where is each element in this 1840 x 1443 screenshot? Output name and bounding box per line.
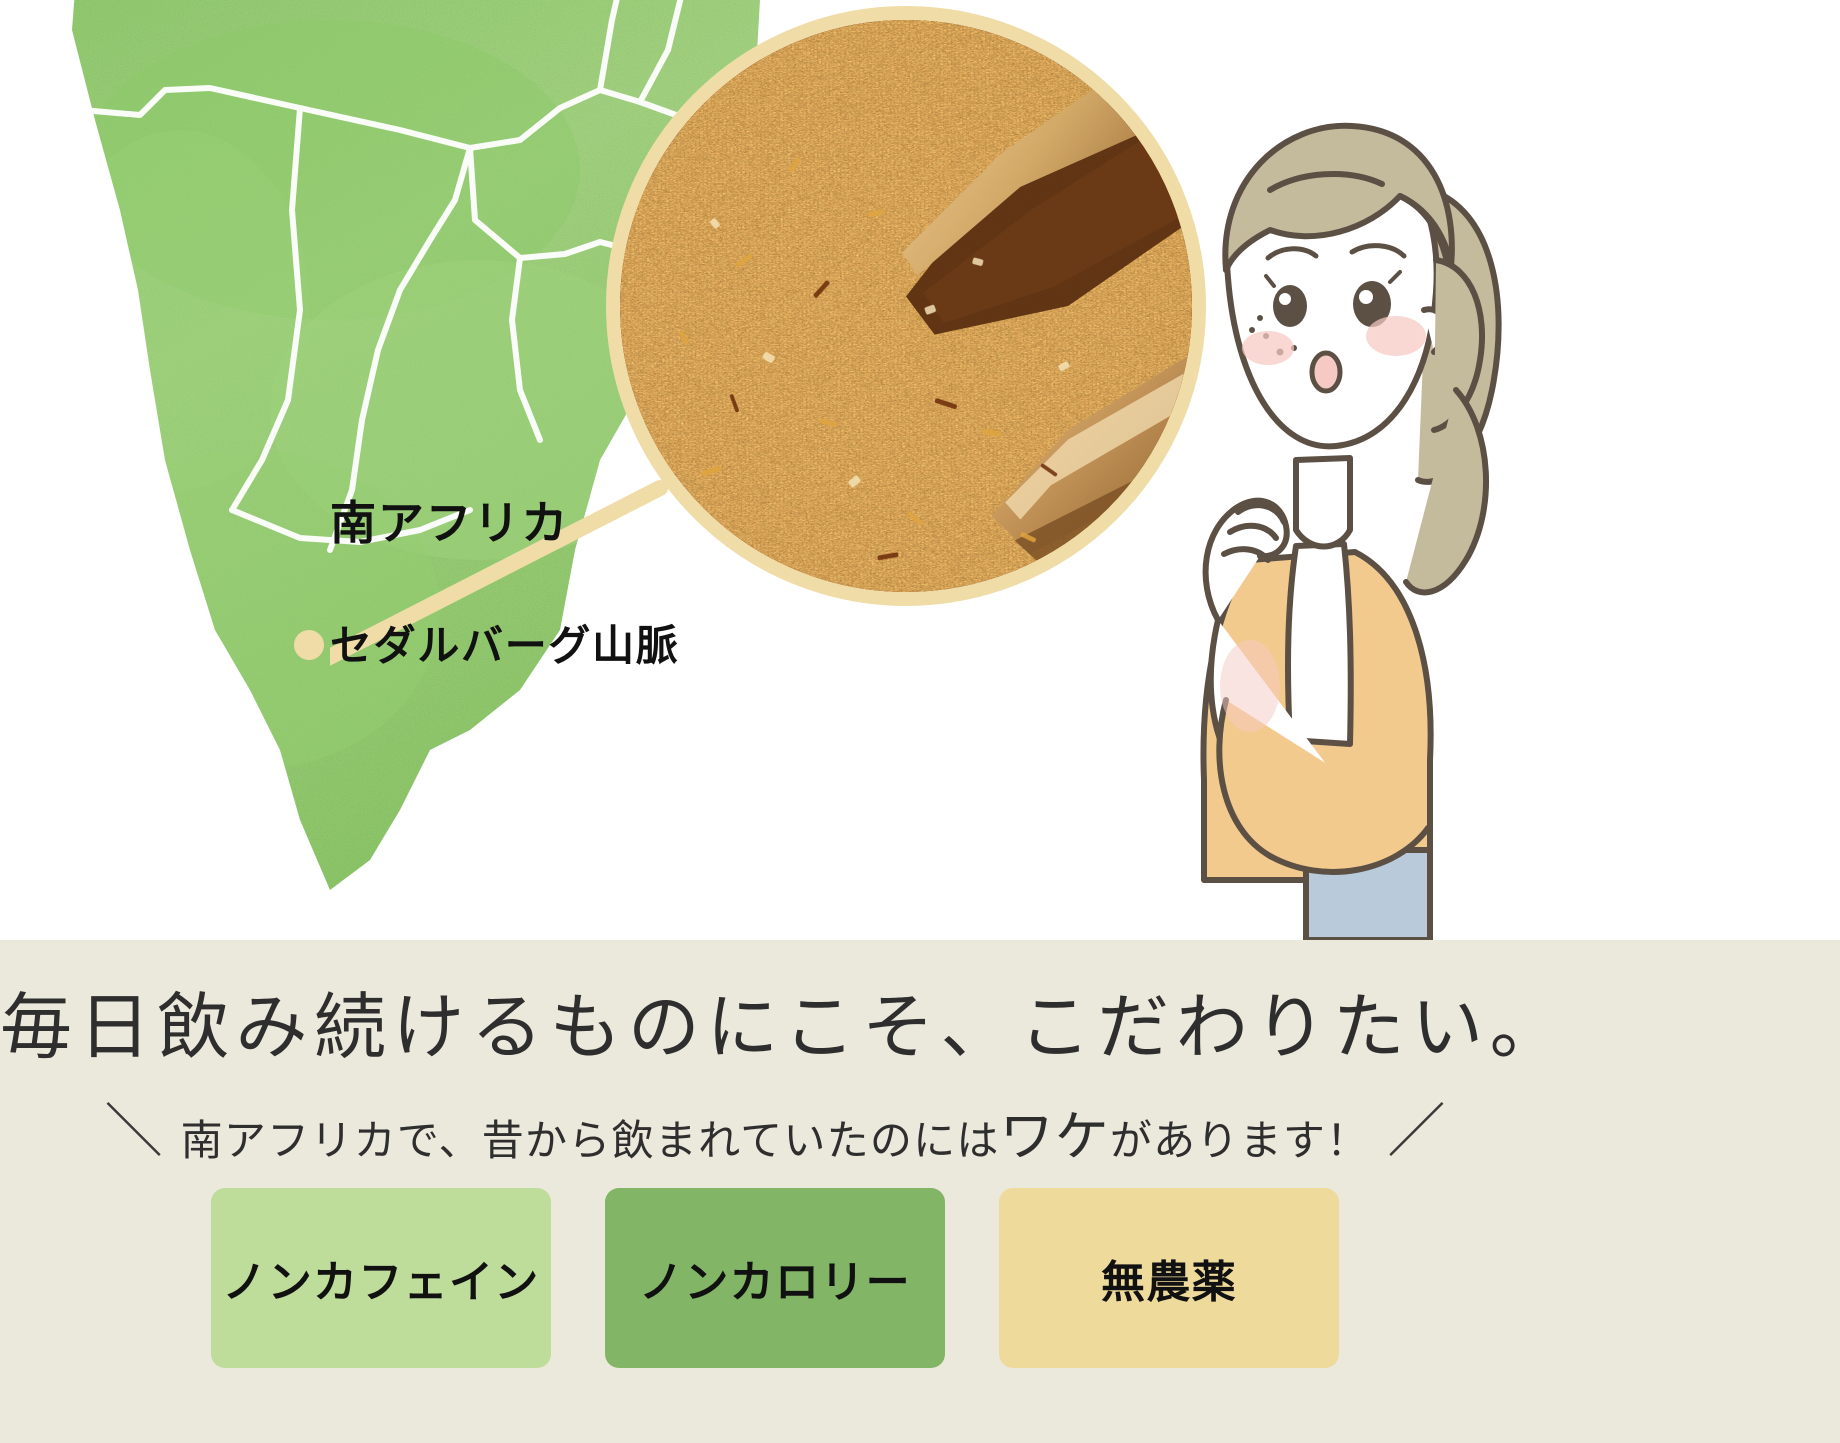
page-root: 南アフリカ セダルバーグ山脈 xyxy=(0,0,1840,1443)
message-band: 毎日飲み続けるものにこそ、こだわりたい。 ＼ 南アフリカで、昔から飲まれていたの… xyxy=(0,940,1840,1443)
subtitle-prefix: 南アフリカで、昔から飲まれていたのには xyxy=(181,1119,1000,1165)
slash-left-decoration: ＼ xyxy=(105,1103,163,1161)
subtitle-suffix: があります！ xyxy=(1110,1119,1370,1165)
slash-right-decoration: ／ xyxy=(1387,1103,1445,1161)
subtitle-emphasis: ワケ xyxy=(1000,1107,1110,1167)
southern-africa-map xyxy=(0,0,760,940)
hero-section: 南アフリカ セダルバーグ山脈 xyxy=(0,0,1840,940)
badge-non-calorie[interactable]: ノンカロリー xyxy=(605,1188,945,1368)
map-label-country: 南アフリカ xyxy=(330,487,569,553)
map-location-marker-dot xyxy=(294,630,324,660)
badge-non-calorie-label: ノンカロリー xyxy=(639,1246,911,1310)
page-subtitle: 南アフリカで、昔から飲まれていたのにはワケがあります！ xyxy=(181,1092,1370,1171)
message-band-inner: 毎日飲み続けるものにこそ、こだわりたい。 ＼ 南アフリカで、昔から飲まれていたの… xyxy=(0,940,1550,1443)
badge-pesticide-free-label: 無農薬 xyxy=(1101,1246,1237,1310)
feature-badge-row: ノンカフェイン ノンカロリー 無農薬 xyxy=(0,1188,1550,1368)
map-label-mountain: セダルバーグ山脈 xyxy=(330,612,679,673)
badge-non-caffeine-label: ノンカフェイン xyxy=(222,1246,539,1310)
badge-pesticide-free[interactable]: 無農薬 xyxy=(999,1188,1339,1368)
page-headline: 毎日飲み続けるものにこそ、こだわりたい。 xyxy=(0,968,1550,1073)
woman-illustration xyxy=(1100,60,1520,940)
badge-non-caffeine[interactable]: ノンカフェイン xyxy=(211,1188,551,1368)
subtitle-row: ＼ 南アフリカで、昔から飲まれていたのにはワケがあります！ ／ xyxy=(0,1092,1550,1171)
